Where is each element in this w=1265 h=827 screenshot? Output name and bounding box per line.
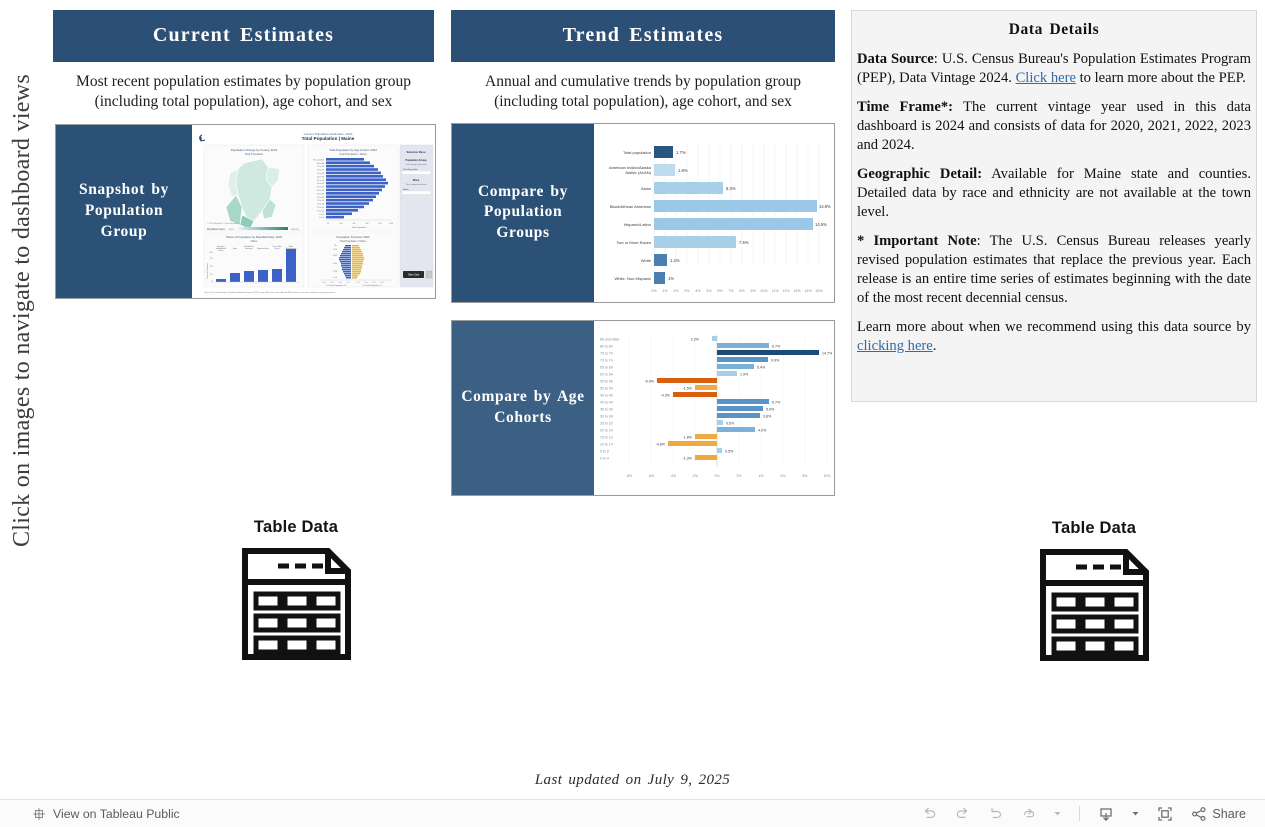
geographic-detail-label: Geographic Detail: — [857, 166, 982, 182]
fullscreen-icon[interactable] — [1151, 803, 1179, 825]
svg-text:0%: 0% — [715, 474, 720, 478]
svg-text:75 to 79: 75 to 79 — [600, 351, 613, 355]
svg-text:3%: 3% — [684, 289, 690, 293]
svg-text:6%: 6% — [781, 474, 786, 478]
svg-text:75 to 79: 75 to 79 — [317, 165, 324, 168]
svg-text:-2%: -2% — [692, 474, 698, 478]
toolbar-separator — [1079, 806, 1080, 821]
svg-text:Total Population | Maine: Total Population | Maine — [302, 136, 355, 141]
svg-text:Races: Races — [275, 248, 280, 250]
card-compare-age-preview: 2.2% 6.7% 14.7% 9.9% 5.4% 1.9% -5.9% -1.… — [594, 321, 834, 495]
svg-text:% of Total Population - F: % of Total Population - F — [362, 284, 382, 287]
svg-text:7.5%: 7.5% — [739, 240, 749, 245]
svg-text:50 to 54: 50 to 54 — [600, 386, 613, 390]
svg-text:Maine: Maine — [403, 189, 410, 191]
svg-text:2%: 2% — [737, 474, 742, 478]
svg-text:25 to 29: 25 to 29 — [317, 199, 324, 202]
banner-current-estimates: Current Estimates — [53, 10, 434, 62]
column-trend-estimates: Trend Estimates Annual and cumulative tr… — [451, 10, 835, 496]
svg-text:(Non-Hispanic): (Non-Hispanic) — [285, 248, 297, 250]
svg-text:Black/African American: Black/African American — [610, 204, 651, 209]
svg-text:60 to 64: 60 to 64 — [317, 175, 324, 178]
view-on-tableau-public-button[interactable]: View on Tableau Public — [32, 807, 180, 821]
table-data-trend-estimates[interactable]: Table Data — [1009, 519, 1179, 663]
svg-text:5 to 9: 5 to 9 — [600, 449, 609, 453]
svg-text:Share of Population: Share of Population — [206, 263, 209, 279]
card-compare-groups-preview: 1.7% 1.9% 6.3% 14.8% 14.5% 7.5% 1.2% 1% — [594, 124, 834, 302]
svg-text:Place: Place — [413, 179, 420, 182]
learn-more-text-b: . — [933, 338, 937, 354]
svg-text:Selection Menu: Selection Menu — [406, 150, 425, 154]
card-snapshot-by-population-group[interactable]: Snapshot by Population Group Current Pop… — [55, 124, 436, 299]
svg-text:Native: Native — [219, 249, 224, 252]
svg-text:1.7%: 1.7% — [676, 150, 686, 155]
svg-text:Population Pyramid, 2024: Population Pyramid, 2024 — [336, 235, 369, 239]
download-icon[interactable] — [1092, 803, 1120, 825]
svg-text:70 to 74: 70 to 74 — [317, 169, 324, 172]
svg-text:40 to 44: 40 to 44 — [600, 400, 613, 404]
svg-text:© 2024 Mapbox © OpenStreetMap: © 2024 Mapbox © OpenStreetMap — [207, 222, 240, 225]
redo-icon[interactable] — [949, 803, 976, 825]
svg-text:25 to 29: 25 to 29 — [600, 421, 613, 425]
svg-text:-4%: -4% — [670, 474, 676, 478]
svg-text:% of Total Population - M: % of Total Population - M — [326, 284, 346, 287]
svg-text:14.7%: 14.7% — [822, 351, 833, 355]
data-details-source: Data Source: U.S. Census Bureau's Popula… — [857, 50, 1251, 88]
svg-text:4%: 4% — [695, 289, 701, 293]
svg-text:-1.8%: -1.8% — [683, 435, 693, 439]
svg-text:Total Population by Age Cohort: Total Population by Age Cohort, 2024 — [329, 148, 377, 152]
svg-text:50 to 54: 50 to 54 — [317, 182, 324, 185]
tableau-logo-icon — [32, 807, 46, 821]
svg-text:5%: 5% — [706, 289, 712, 293]
svg-text:4%: 4% — [759, 474, 764, 478]
svg-text:6.7%: 6.7% — [772, 400, 781, 404]
svg-text:0%: 0% — [651, 289, 657, 293]
svg-text:1.0%: 1.0% — [346, 282, 350, 284]
svg-text:1.0%: 1.0% — [356, 282, 360, 284]
svg-text:35 to 39: 35 to 39 — [317, 192, 324, 195]
card-compare-by-population-groups[interactable]: Compare by Population Groups — [451, 123, 835, 303]
svg-text:70 to 74: 70 to 74 — [600, 358, 613, 362]
table-data-title: Table Data — [1009, 519, 1179, 538]
clicking-here-link[interactable]: clicking here — [857, 338, 933, 354]
svg-text:0 to 4: 0 to 4 — [600, 456, 609, 460]
svg-text:55 to 59: 55 to 59 — [600, 379, 613, 383]
svg-text:Two or More Races: Two or More Races — [616, 240, 651, 245]
data-details-heading: Data Details — [857, 21, 1251, 39]
svg-text:80 to 84: 80 to 84 — [317, 162, 324, 165]
svg-text:1%: 1% — [662, 289, 668, 293]
svg-text:15 to 19: 15 to 19 — [317, 206, 324, 209]
table-data-title: Table Data — [211, 518, 381, 537]
svg-text:Total Population | Maine: Total Population | Maine — [339, 152, 367, 156]
svg-text:1.9%: 1.9% — [740, 372, 749, 376]
svg-text:6.7%: 6.7% — [772, 344, 781, 348]
svg-text:Source: U.S. Census Bureau, Po: Source: U.S. Census Bureau, Population E… — [204, 291, 336, 294]
svg-text:14%: 14% — [804, 289, 812, 293]
svg-text:10%: 10% — [760, 289, 768, 293]
revert-icon[interactable] — [982, 803, 1009, 825]
svg-text:2.2%: 2.2% — [691, 337, 700, 341]
data-details-important-note: * Important Note: The U.S. Census Bureau… — [857, 232, 1251, 308]
compare-age-cohorts-thumbnail: 2.2% 6.7% 14.7% 9.9% 5.4% 1.9% -5.9% -1.… — [594, 321, 834, 495]
svg-text:5.4%: 5.4% — [757, 365, 766, 369]
svg-text:Table Data: Table Data — [408, 273, 420, 276]
svg-text:12%: 12% — [782, 289, 790, 293]
download-caret-icon[interactable] — [1126, 803, 1145, 825]
navigation-hint-text: Click on images to navigate to dashboard… — [10, 73, 37, 546]
svg-text:20 to 24: 20 to 24 — [317, 203, 324, 206]
svg-text:7%: 7% — [728, 289, 734, 293]
svg-text:0 to 4: 0 to 4 — [319, 216, 324, 219]
svg-text:4.0%: 4.0% — [758, 428, 767, 432]
svg-text:3.0%: 3.0% — [330, 282, 334, 284]
svg-text:8%: 8% — [803, 474, 808, 478]
svg-text:-5.9%: -5.9% — [645, 379, 655, 383]
data-details-panel: Data Details Data Source: U.S. Census Bu… — [851, 10, 1257, 402]
svg-text:0.5%: 0.5% — [725, 449, 734, 453]
card-snapshot-preview: Current Population Estimates, 2024 Total… — [192, 125, 435, 298]
svg-text:2.0%: 2.0% — [338, 282, 342, 284]
svg-text:-4.8%: -4.8% — [656, 442, 666, 446]
data-details-timeframe: Time Frame*: The current vintage year us… — [857, 98, 1251, 155]
svg-text:11%: 11% — [772, 289, 780, 293]
svg-text:-8%: -8% — [626, 474, 632, 478]
svg-text:25-29: 25-29 — [333, 271, 337, 273]
svg-text:-4.3%: -4.3% — [661, 393, 671, 397]
svg-text:3.0%: 3.0% — [372, 282, 376, 284]
svg-text:2%: 2% — [673, 289, 679, 293]
dashboard-root: Click on images to navigate to dashboard… — [0, 0, 1265, 827]
svg-text:10%: 10% — [824, 474, 831, 478]
svg-text:Hispanic/Latino: Hispanic/Latino — [624, 222, 652, 227]
svg-text:45 to 49: 45 to 49 — [317, 186, 324, 189]
svg-text:14.5%: 14.5% — [815, 222, 827, 227]
data-details-learn-more: Learn more about when we recommend using… — [857, 318, 1251, 356]
data-source-text-b: to learn more about the PEP. — [1076, 70, 1246, 86]
svg-text:1%: 1% — [668, 276, 674, 281]
snapshot-dashboard-thumbnail: Current Population Estimates, 2024 Total… — [192, 125, 435, 298]
card-compare-groups-label: Compare by Population Groups — [452, 124, 594, 302]
svg-text:9.9%: 9.9% — [771, 358, 780, 362]
data-details-geography: Geographic Detail: Available for Maine s… — [857, 165, 1251, 222]
svg-text:85 and older: 85 and older — [313, 158, 324, 161]
refresh-icon[interactable] — [1015, 803, 1042, 825]
table-data-icon — [240, 546, 353, 662]
svg-text:Native (AI/AN): Native (AI/AN) — [625, 170, 651, 175]
learn-more-text-a: Learn more about when we recommend using… — [857, 319, 1251, 335]
svg-text:15%: 15% — [815, 289, 823, 293]
share-label: Share — [1212, 807, 1246, 821]
subtitle-current-estimates: Most recent population estimates by popu… — [53, 62, 434, 121]
svg-text:Total Population: Total Population — [403, 168, 419, 171]
svg-text:Total Population: Total Population — [245, 152, 264, 156]
card-compare-age-label: Compare by Age Cohorts — [452, 321, 594, 495]
subtitle-trend-estimates: Annual and cumulative trends by populati… — [451, 62, 835, 121]
svg-text:Total Population: Total Population — [352, 226, 368, 229]
svg-text:40 to 44: 40 to 44 — [317, 189, 324, 192]
svg-text:American: American — [245, 247, 252, 250]
navigation-hint: Click on images to navigate to dashboard… — [0, 0, 46, 620]
svg-text:15 to 19: 15 to 19 — [600, 435, 613, 439]
svg-text:Total Population | Maine: Total Population | Maine — [340, 240, 367, 243]
tableau-toolbar: View on Tableau Public — [0, 799, 1265, 827]
svg-text:35 to 39: 35 to 39 — [600, 407, 613, 411]
svg-text:Total population: Total population — [623, 150, 651, 155]
svg-text:Asian: Asian — [233, 247, 237, 250]
toolbar-actions: Share — [916, 803, 1251, 825]
svg-text:4.0%: 4.0% — [380, 282, 384, 284]
svg-text:This changes all panels: This changes all panels — [406, 164, 427, 166]
svg-text:Population Group: Population Group — [405, 159, 427, 162]
svg-text:-6%: -6% — [648, 474, 654, 478]
svg-text:Hispanic/Latino: Hispanic/Latino — [257, 247, 269, 250]
svg-text:75-79: 75-79 — [333, 249, 337, 251]
svg-text:30 to 34: 30 to 34 — [600, 414, 613, 418]
svg-text:80 to 84: 80 to 84 — [600, 344, 613, 348]
svg-text:5,957: 5,957 — [229, 229, 235, 231]
svg-text:1.9%: 1.9% — [678, 168, 688, 173]
svg-text:55 to 59: 55 to 59 — [317, 179, 324, 182]
svg-text:-1.3%: -1.3% — [683, 456, 693, 460]
undo-icon[interactable] — [916, 803, 943, 825]
svg-text:5 to 9: 5 to 9 — [319, 213, 324, 216]
last-updated-text: Last updated on July 9, 2025 — [0, 772, 1265, 789]
svg-text:4.0%: 4.0% — [322, 282, 326, 284]
svg-text:14.8%: 14.8% — [819, 204, 831, 209]
svg-text:10 to 14: 10 to 14 — [600, 442, 613, 446]
svg-text:Population Count: Population Count — [207, 228, 225, 231]
banner-trend-estimates: Trend Estimates — [451, 10, 835, 62]
card-snapshot-label: Snapshot by Population Group — [56, 125, 192, 298]
svg-text:1.2%: 1.2% — [670, 258, 680, 263]
important-note-star: * — [857, 233, 864, 249]
svg-text:Maine: Maine — [251, 240, 258, 243]
svg-text:108,794: 108,794 — [291, 229, 299, 231]
svg-text:60 to 64: 60 to 64 — [600, 372, 613, 376]
important-note-label: Important Note — [873, 233, 976, 249]
svg-text:Share of Population by Race/Et: Share of Population by Race/Ethnicity, 2… — [226, 235, 283, 239]
share-button[interactable]: Share — [1185, 803, 1251, 825]
svg-text:3.8%: 3.8% — [763, 414, 772, 418]
svg-text:0.5%: 0.5% — [726, 421, 735, 425]
data-source-label: Data Source — [857, 51, 934, 67]
svg-text:65 to 69: 65 to 69 — [317, 172, 324, 175]
svg-text:Population Change by County, 2: Population Change by County, 2024 — [231, 148, 278, 152]
pep-click-here-link[interactable]: Click here — [1016, 70, 1076, 86]
card-compare-by-age-cohorts[interactable]: Compare by Age Cohorts 2.2% 6.7% — [451, 320, 835, 496]
pause-auto-updates-caret-icon[interactable] — [1048, 803, 1067, 825]
compare-population-groups-thumbnail: 1.7% 1.9% 6.3% 14.8% 14.5% 7.5% 1.2% 1% — [594, 124, 834, 302]
svg-text:White, Non-Hispanic: White, Non-Hispanic — [615, 276, 651, 281]
svg-text:100%: 100% — [209, 252, 214, 254]
svg-text:6.3%: 6.3% — [726, 186, 736, 191]
svg-text:85+: 85+ — [334, 245, 337, 247]
table-data-icon — [1038, 547, 1151, 663]
svg-text:White: White — [641, 258, 652, 263]
svg-text:85 and older: 85 and older — [600, 337, 620, 341]
svg-text:Asian: Asian — [641, 186, 651, 191]
svg-text:45-49: 45-49 — [333, 263, 337, 265]
svg-text:100K: 100K — [389, 223, 394, 225]
table-data-current-estimates[interactable]: Table Data — [211, 518, 381, 662]
time-frame-label: Time Frame*: — [857, 99, 953, 115]
svg-text:This changes two views: This changes two views — [405, 183, 426, 186]
svg-text:9%: 9% — [750, 289, 756, 293]
svg-text:20 to 24: 20 to 24 — [600, 428, 613, 432]
svg-text:30 to 34: 30 to 34 — [317, 196, 324, 199]
svg-text:6%: 6% — [717, 289, 723, 293]
svg-text:65 to 69: 65 to 69 — [600, 365, 613, 369]
svg-text:5.9%: 5.9% — [766, 407, 775, 411]
svg-text:60-64: 60-64 — [333, 255, 337, 257]
svg-text:2.0%: 2.0% — [364, 282, 368, 284]
svg-text:-1.5%: -1.5% — [683, 386, 693, 390]
svg-text:45 to 49: 45 to 49 — [600, 393, 613, 397]
view-on-tableau-public-label: View on Tableau Public — [53, 807, 180, 821]
svg-text:8%: 8% — [739, 289, 745, 293]
share-icon — [1190, 805, 1208, 823]
svg-text:10 to 14: 10 to 14 — [317, 209, 324, 212]
column-current-estimates: Current Estimates Most recent population… — [53, 10, 434, 299]
svg-text:13%: 13% — [793, 289, 801, 293]
